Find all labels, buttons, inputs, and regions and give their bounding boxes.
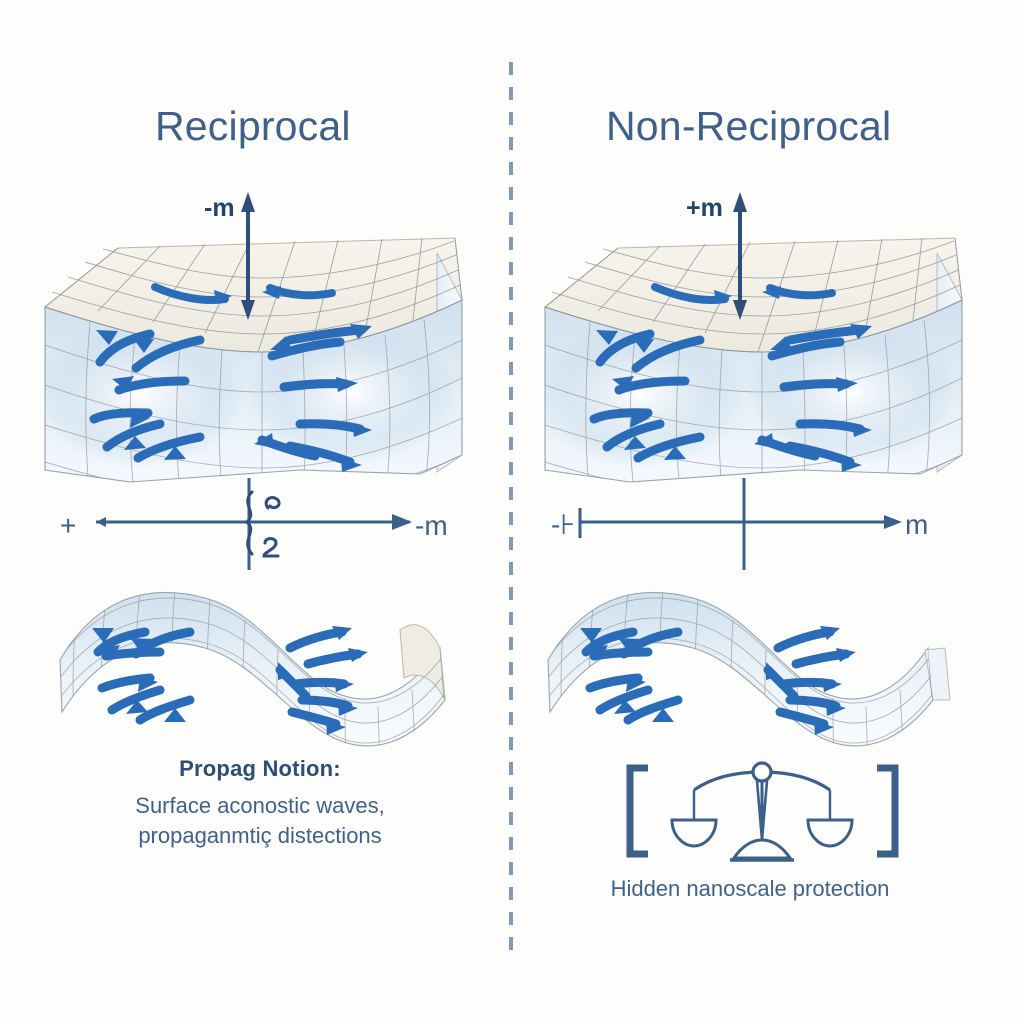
bracket-left-icon <box>630 768 648 854</box>
left-caption-line-2: propaganmtiç distections <box>60 821 460 851</box>
diagram-canvas: Reciprocal Non-Reciprocal <box>0 0 1024 1024</box>
balance-scale-icon <box>672 763 852 860</box>
right-caption-line-1: Hidden nanoscale protection <box>540 874 960 904</box>
left-caption-line-1: Surface aconostic waves, <box>60 791 460 821</box>
right-caption: Hidden nanoscale protection <box>540 874 960 904</box>
bracket-right-icon <box>877 768 895 854</box>
balance-scale-group <box>0 0 1024 1024</box>
left-caption: Propag Notion: Surface aconostic waves, … <box>60 756 460 851</box>
left-caption-heading: Propag Notion: <box>60 756 460 782</box>
